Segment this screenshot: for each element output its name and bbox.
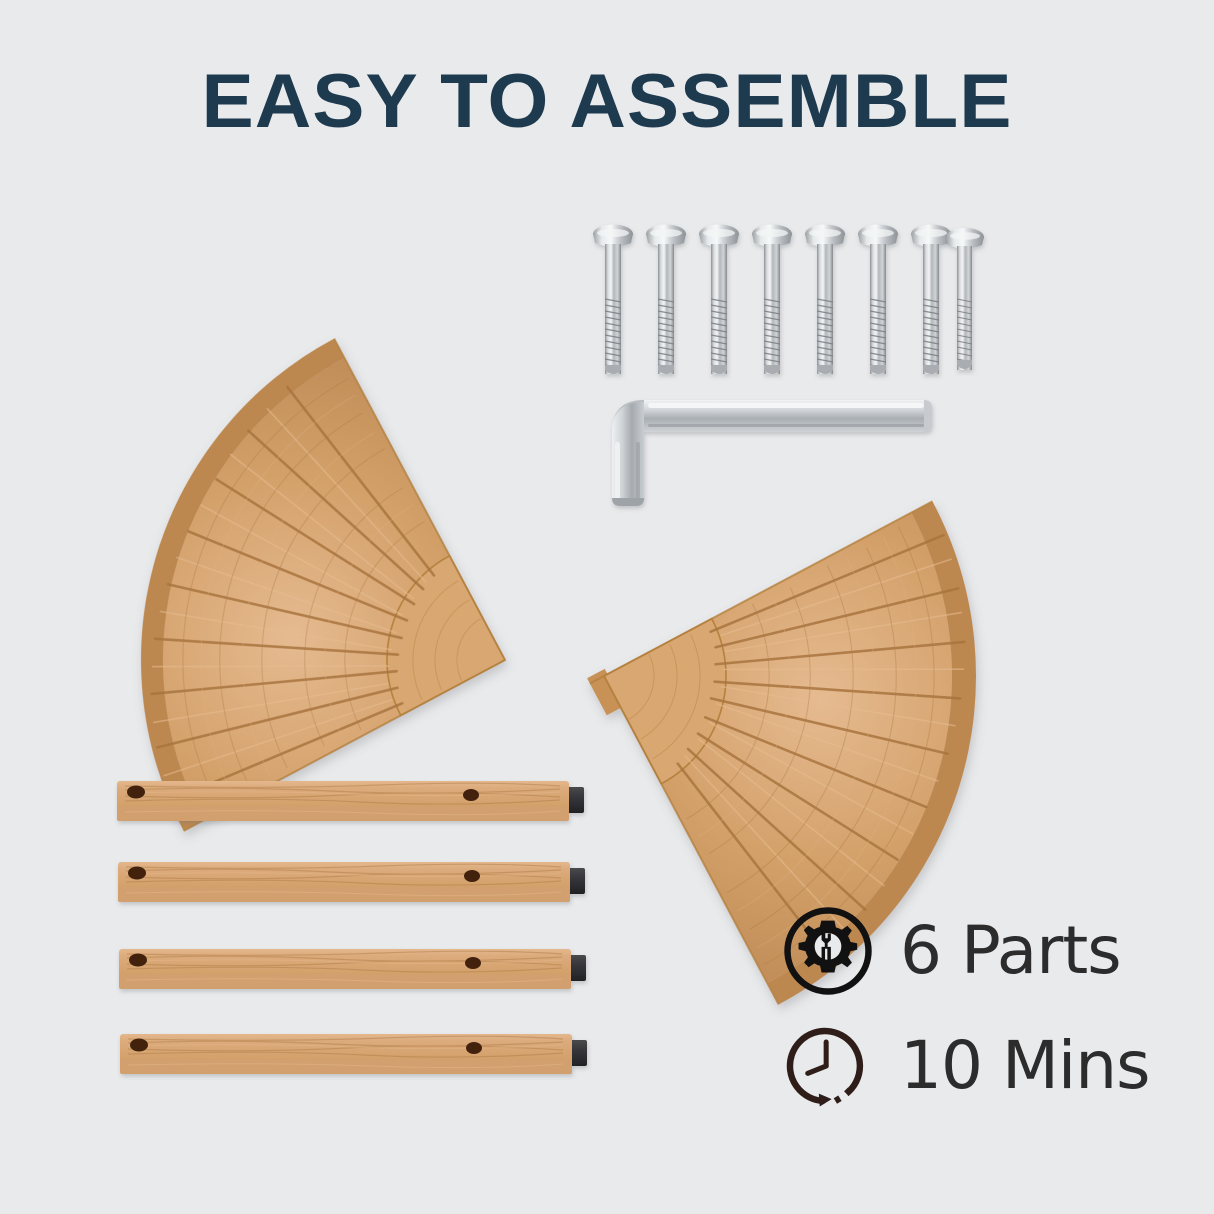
bolt-group (593, 225, 984, 375)
hex-bolt (858, 225, 898, 375)
fan-panel-1 (13, 339, 660, 1123)
infographic-canvas: EASY TO ASSEMBLE (0, 0, 1214, 1214)
hex-bolt (593, 225, 633, 375)
allen-key (612, 400, 932, 506)
wood-rail (118, 862, 585, 902)
clock-arrow-icon (782, 1020, 874, 1112)
gear-wrench-icon (782, 905, 874, 997)
badge-time: 10 Mins (782, 1020, 1149, 1112)
badge-parts: 6 Parts (782, 905, 1121, 997)
hex-bolt (699, 225, 739, 375)
wood-rail (119, 949, 586, 989)
hex-bolt (946, 228, 984, 370)
wood-rail (117, 781, 584, 821)
hex-bolt (752, 225, 792, 375)
badge-parts-label: 6 Parts (900, 905, 1121, 997)
wood-rail (120, 1034, 587, 1074)
hex-bolt (646, 225, 686, 375)
badge-time-label: 10 Mins (900, 1020, 1149, 1112)
hex-bolt (911, 225, 951, 375)
hex-bolt (805, 225, 845, 375)
